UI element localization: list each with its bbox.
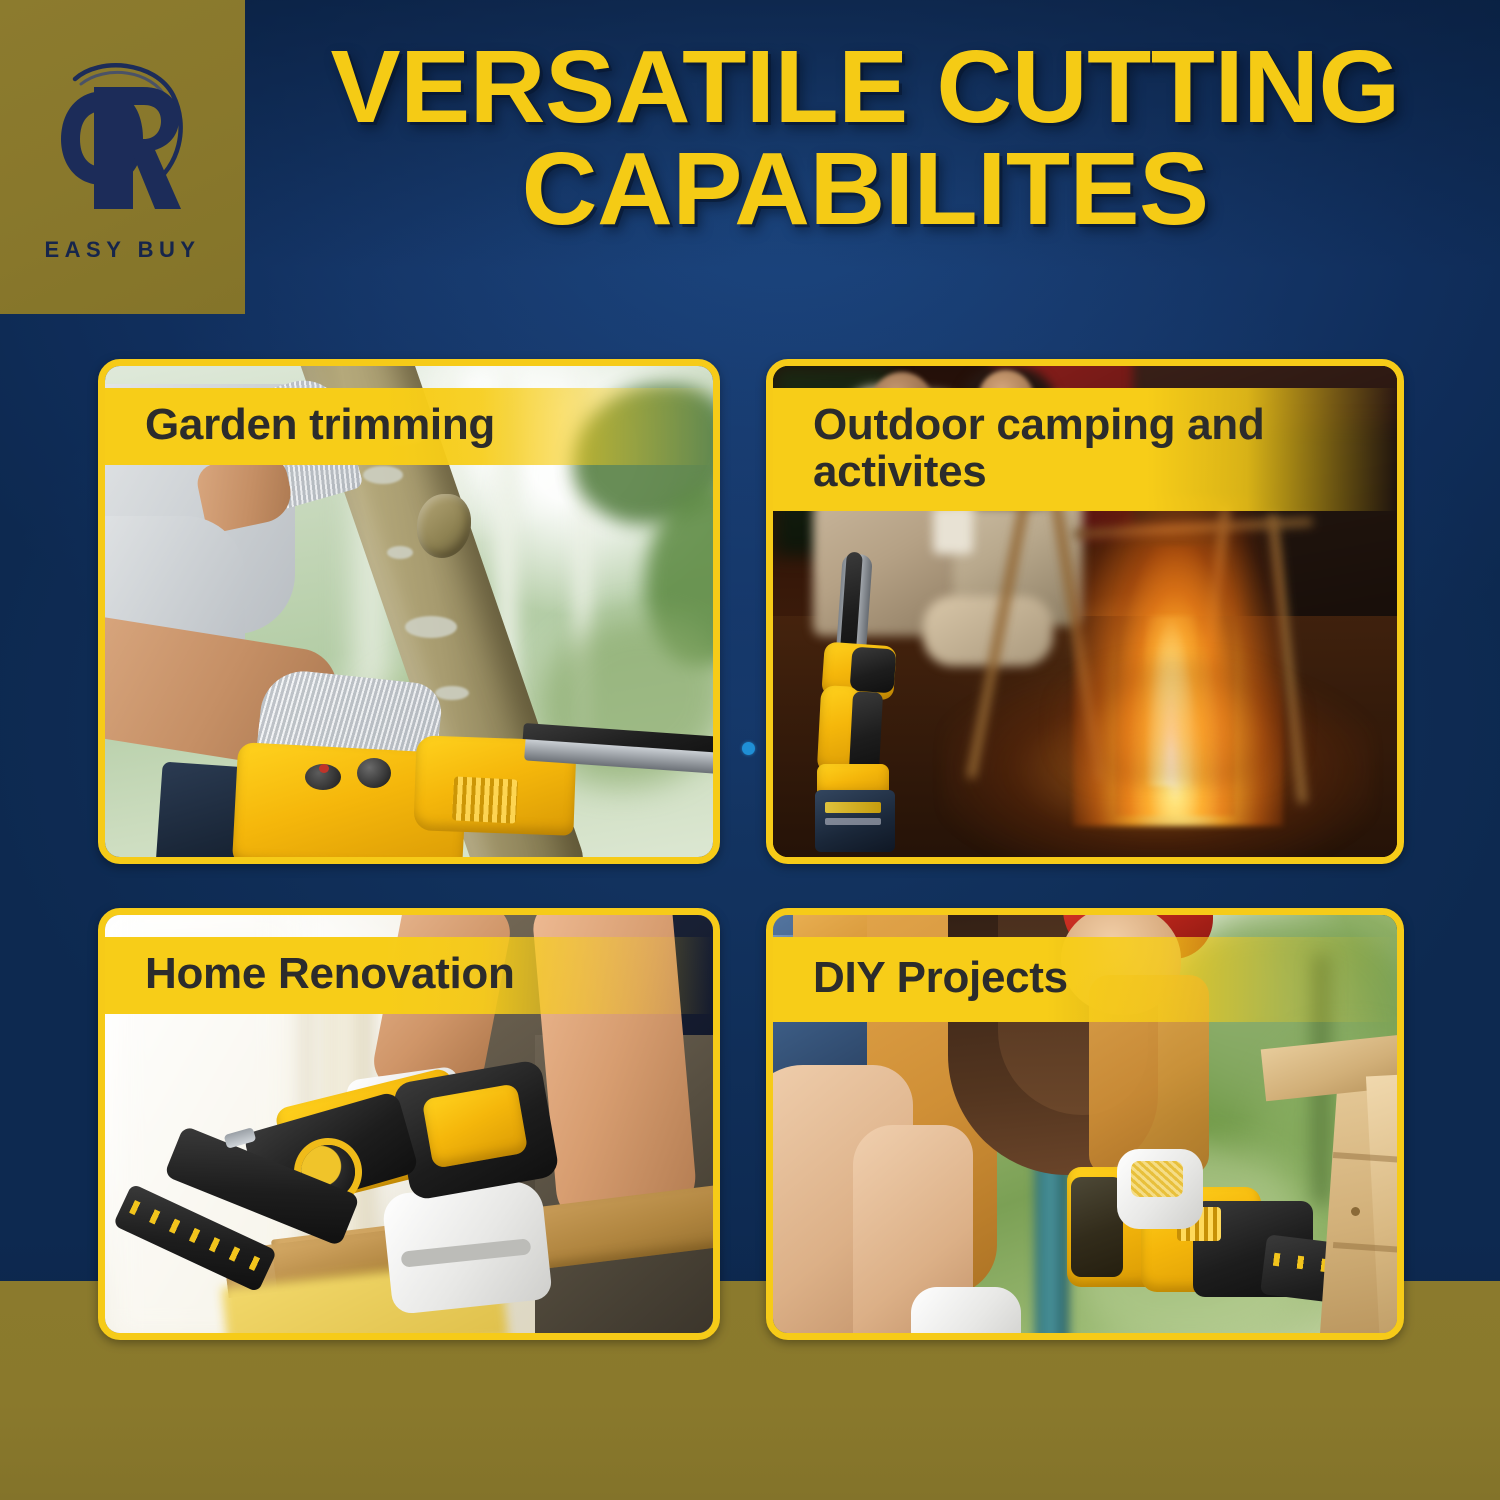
feature-panel-garden-trimming[interactable]: Garden trimming <box>98 359 720 864</box>
brand-wordmark: EASY BUY <box>44 237 200 263</box>
feature-panel-outdoor-camping[interactable]: Outdoor camping and activites <box>766 359 1404 864</box>
page-title: VERSATILE CUTTING CAPABILITES <box>250 18 1480 258</box>
feature-panel-home-renovation[interactable]: Home Renovation <box>98 908 720 1340</box>
blue-dot-artifact <box>742 742 755 755</box>
title-line-2: CAPABILITES <box>330 138 1399 240</box>
title-line-1: VERSATILE CUTTING <box>330 29 1399 144</box>
panel-caption-garden-trimming: Garden trimming <box>105 388 713 465</box>
qr-monogram-logo-icon <box>47 51 199 231</box>
panel-caption-diy-projects: DIY Projects <box>773 937 1397 1022</box>
panel-caption-home-renovation: Home Renovation <box>105 937 713 1014</box>
poster-canvas: EASY BUY VERSATILE CUTTING CAPABILITES <box>0 0 1500 1500</box>
panel-caption-outdoor-camping: Outdoor camping and activites <box>773 388 1397 511</box>
brand-logo-block: EASY BUY <box>0 0 245 314</box>
feature-panel-diy-projects[interactable]: DIY Projects <box>766 908 1404 1340</box>
